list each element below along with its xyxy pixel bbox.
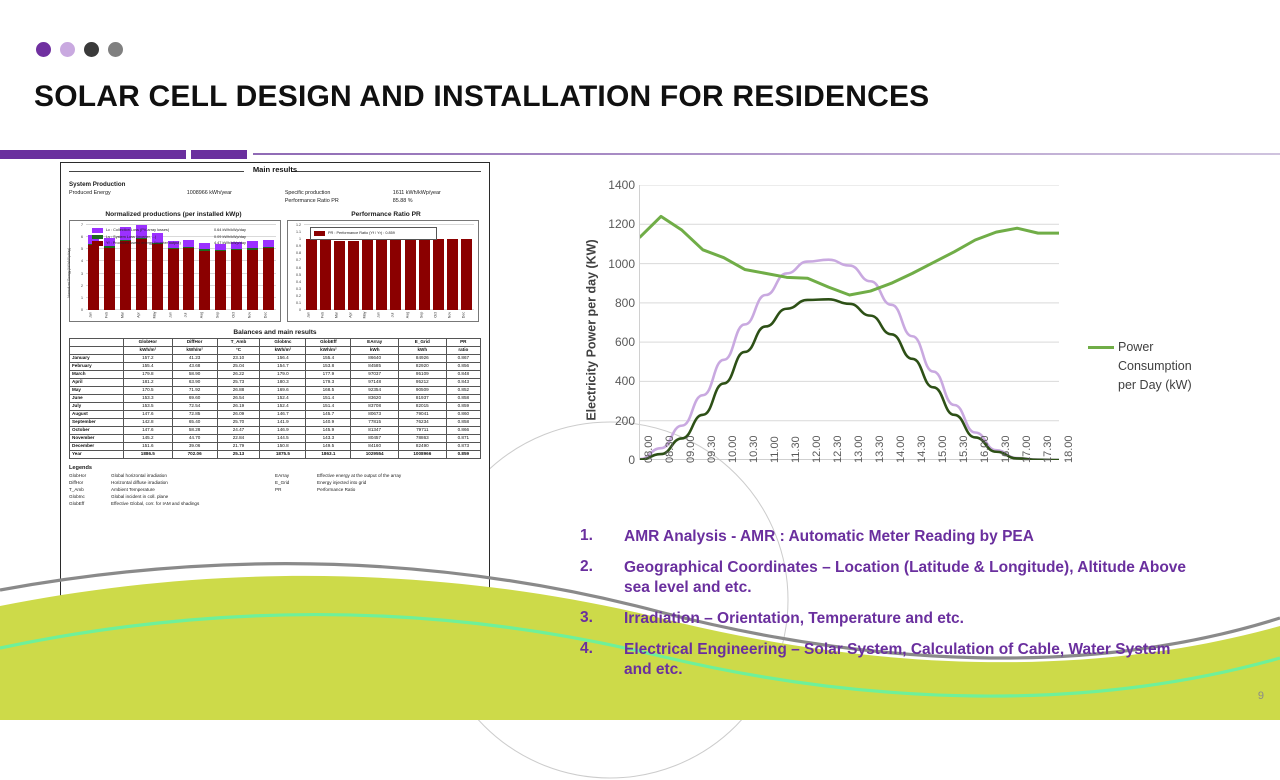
x-tick-label: 08.30	[664, 435, 676, 463]
y-tick-label: 200	[615, 414, 635, 428]
table-cell: 155.4	[306, 354, 351, 362]
table-cell: 26.88	[217, 386, 260, 394]
table-cell: 0.873	[446, 442, 480, 450]
bar	[199, 243, 210, 310]
list-item: 4. Electrical Engineering – Solar System…	[580, 640, 1200, 680]
table-body: January157.241.2323.10156.4155.486640849…	[70, 354, 481, 458]
table-cell: October	[70, 426, 124, 434]
legends-heading: Legends	[69, 465, 481, 471]
bar-segment-yf	[136, 239, 147, 310]
x-tick-label: Jun	[377, 310, 387, 321]
bar-segment-yf	[104, 248, 115, 310]
bar-segment-yf	[88, 245, 99, 310]
table-cell: 141.9	[260, 418, 306, 426]
table-cell: 152.4	[260, 394, 306, 402]
series-line	[640, 216, 1059, 295]
table-cell: 71.92	[172, 386, 217, 394]
legend-row: DiffHorHorizontal diffuse irradiation	[69, 479, 275, 486]
x-tick-label: Oct	[433, 310, 443, 321]
table-row: July153.572.5426.19152.4151.483708820150…	[70, 402, 481, 410]
y-tick-label: 0.6	[296, 266, 301, 270]
bullet-number: 4.	[580, 640, 624, 680]
x-tick-label: 18.00	[1063, 435, 1075, 463]
x-tick-label: 17.30	[1042, 435, 1054, 463]
table-cell: 26.19	[217, 402, 260, 410]
bullet-text: Electrical Engineering – Solar System, C…	[624, 640, 1200, 680]
legend-line-swatch	[1088, 346, 1114, 349]
legend-swatch	[92, 228, 103, 233]
legend-key: PR	[275, 486, 317, 493]
table-cell: 23.10	[217, 354, 260, 362]
table-cell: 0.859	[446, 450, 480, 458]
legend-swatch	[92, 235, 103, 240]
y-tick-label: 1	[299, 237, 301, 241]
table-cell: 1875.5	[260, 450, 306, 458]
spacer-value	[187, 197, 285, 205]
table-cell: 146.7	[260, 410, 306, 418]
table-cell: 81937	[398, 394, 446, 402]
table-row: October147.658.2824.47146.9145.981347797…	[70, 426, 481, 434]
table-cell: 77815	[351, 418, 399, 426]
bar	[334, 241, 345, 310]
legend-desc: Ambient Temperature	[111, 486, 275, 493]
y-tick-label: 0	[628, 453, 635, 467]
table-col-header	[70, 339, 124, 347]
legend-desc: Global horizontal irradiation	[111, 472, 275, 479]
bar	[390, 240, 401, 310]
table-cell: 180.3	[260, 378, 306, 386]
table-cell: 78863	[398, 434, 446, 442]
x-tick-label: 16.30	[1000, 435, 1012, 463]
table-col-unit: ratio	[446, 346, 480, 354]
x-tick-label: Jul	[184, 310, 194, 321]
table-row: February155.443.6825.04154.7153.88458582…	[70, 362, 481, 370]
table-cell: 79711	[398, 426, 446, 434]
table-cell: 151.6	[124, 442, 173, 450]
chart-y-ticks: 0200400600800100012001400	[601, 185, 635, 460]
table-row: November145.244.7022.84144.5143.38045778…	[70, 434, 481, 442]
bar-segment-yf	[168, 249, 179, 310]
y-tick-label: 1200	[608, 217, 635, 231]
x-tick-label: 15.30	[958, 435, 970, 463]
bar-segment-yf	[231, 250, 242, 310]
bar	[362, 240, 373, 310]
report-header-title: Main results	[61, 165, 489, 174]
table-header-row: GlobHorDiffHorT_AmbGlobIncGlobEffEArrayE…	[70, 339, 481, 347]
table-row-year: Year1886.5702.0625.131875.51863.11029554…	[70, 450, 481, 458]
bullet-number: 2.	[580, 558, 624, 598]
table-cell: 82015	[398, 402, 446, 410]
legend-row: GlobHorGlobal horizontal irradiation	[69, 472, 275, 479]
table-cell: 151.4	[306, 394, 351, 402]
table-cell: 83708	[351, 402, 399, 410]
bar-segment-yf	[120, 241, 131, 310]
legend-desc: Performance Ratio	[317, 486, 481, 493]
table-cell: 168.5	[306, 386, 351, 394]
table-col-header: DiffHor	[172, 339, 217, 347]
x-tick-label: Jul	[391, 310, 401, 321]
table-row: December151.639.0621.79150.8149.58416082…	[70, 442, 481, 450]
y-tick-label: 4	[81, 259, 83, 263]
x-tick-label: Sep	[419, 310, 429, 321]
produced-energy-value: 1008966 kWh/year	[187, 189, 285, 197]
x-tick-label: Aug	[405, 310, 415, 321]
pr-y-axis: 00.10.20.30.40.50.60.70.80.911.11.2	[288, 225, 303, 310]
x-tick-label: Aug	[200, 310, 210, 321]
table-cell: 169.6	[260, 386, 306, 394]
table-cell: 90509	[398, 386, 446, 394]
table-col-header: GlobInc	[260, 339, 306, 347]
decorative-dots	[36, 42, 123, 57]
legend-row: PRPerformance Ratio	[275, 486, 481, 493]
y-tick-label: 600	[615, 335, 635, 349]
x-tick-label: 09.30	[706, 435, 718, 463]
bar	[320, 240, 331, 310]
y-tick-label: 0.2	[296, 294, 301, 298]
table-cell: 0.860	[446, 410, 480, 418]
bar	[461, 239, 472, 310]
table-cell: December	[70, 442, 124, 450]
bullet-text: Geographical Coordinates – Location (Lat…	[624, 558, 1200, 598]
table-cell: 44.70	[172, 434, 217, 442]
dot-purple-icon	[36, 42, 51, 57]
table-col-unit: kWh/m²	[172, 346, 217, 354]
balances-table: GlobHorDiffHorT_AmbGlobIncGlobEffEArrayE…	[69, 338, 481, 459]
table-cell: 97037	[351, 370, 399, 378]
table-col-unit: kWh	[351, 346, 399, 354]
x-tick-label: May	[363, 310, 373, 321]
table-cell: 0.856	[446, 362, 480, 370]
series-line	[640, 260, 1059, 460]
table-cell: 81347	[351, 426, 399, 434]
table-cell: 43.68	[172, 362, 217, 370]
x-tick-label: 13.30	[874, 435, 886, 463]
bar	[376, 240, 387, 310]
table-cell: April	[70, 378, 124, 386]
x-tick-label: Apr	[136, 310, 146, 321]
x-tick-label: 10.00	[727, 435, 739, 463]
x-tick-label: 16.00	[979, 435, 991, 463]
table-col-header: GlobHor	[124, 339, 173, 347]
system-production-block: System Production Produced Energy 100896…	[61, 179, 489, 205]
table-cell: 76234	[398, 418, 446, 426]
legend-row: E_GridEnergy injected into grid	[275, 479, 481, 486]
y-tick-label: 1.2	[296, 223, 301, 227]
bar-segment-yf	[199, 251, 210, 311]
table-cell: 26.22	[217, 370, 260, 378]
chart-y-axis-label-text: Electricity Power per day (KW)	[585, 239, 599, 420]
balances-table-title: Balances and main results	[61, 329, 489, 336]
legend-key: GlobInc	[69, 493, 111, 500]
x-tick-label: Mar	[335, 310, 345, 321]
table-cell: 63.90	[172, 378, 217, 386]
table-cell: 0.871	[446, 434, 480, 442]
table-col-header: EArray	[351, 339, 399, 347]
daily-power-chart: Electricity Power per day (KW) 020040060…	[585, 185, 1105, 515]
y-tick-label: 0	[81, 308, 83, 312]
bar-segment-yf	[263, 248, 274, 310]
x-tick-label: Feb	[321, 310, 331, 321]
table-col-unit	[70, 346, 124, 354]
table-cell: 80673	[351, 410, 399, 418]
legend-label: Power Consumption per Day (kW)	[1118, 338, 1208, 395]
y-tick-label: 800	[615, 296, 635, 310]
bar	[183, 240, 194, 310]
pr-legend: PR : Performance Ratio (Yf / Yr) : 0.859	[310, 227, 437, 240]
x-tick-label: Jan	[89, 310, 99, 321]
table-row: April181.263.9025.73180.3179.39714895212…	[70, 378, 481, 386]
spacer-label	[69, 197, 187, 205]
legend-swatch	[92, 241, 103, 246]
bar	[348, 241, 359, 310]
bar	[419, 240, 430, 310]
table-cell: 179.3	[306, 378, 351, 386]
table-cell: 72.85	[172, 410, 217, 418]
table-cell: 82920	[398, 362, 446, 370]
table-cell: 155.4	[124, 362, 173, 370]
table-cell: 153.8	[306, 362, 351, 370]
table-cell: 145.7	[306, 410, 351, 418]
x-tick-label: Sep	[216, 310, 226, 321]
table-cell: 147.6	[124, 410, 173, 418]
table-col-unit: kWh/m²	[260, 346, 306, 354]
table-cell: 179.8	[124, 370, 173, 378]
dot-lavender-icon	[60, 42, 75, 57]
bar	[168, 241, 179, 310]
table-cell: 69.60	[172, 394, 217, 402]
performance-ratio-title: Performance Ratio PR	[286, 211, 486, 218]
table-cell: 86640	[351, 354, 399, 362]
bar-segment-yf	[215, 251, 226, 310]
x-tick-label: Dec	[461, 310, 471, 321]
mini-chart-titles: Normalized productions (per installed kW…	[61, 211, 489, 218]
table-cell: 65.40	[172, 418, 217, 426]
y-tick-label: 5	[81, 247, 83, 251]
table-cell: 24.47	[217, 426, 260, 434]
legend-key: DiffHor	[69, 479, 111, 486]
system-production-row: Performance Ratio PR 85.88 %	[69, 197, 481, 205]
legend-desc: Energy injected into grid	[317, 479, 481, 486]
table-cell: 0.858	[446, 418, 480, 426]
specific-production-label: Specific production	[285, 189, 393, 197]
table-cell: 21.79	[217, 442, 260, 450]
table-cell: 84926	[398, 354, 446, 362]
y-tick-label: 0	[299, 308, 301, 312]
y-tick-label: 7	[81, 223, 83, 227]
table-cell: 92354	[351, 386, 399, 394]
legends-column-left: GlobHorGlobal horizontal irradiationDiff…	[69, 472, 275, 507]
legend-value: 4.47 kWh/kWp/day	[214, 240, 274, 247]
table-cell: March	[70, 370, 124, 378]
table-cell: 150.8	[260, 442, 306, 450]
table-cell: 144.5	[260, 434, 306, 442]
y-tick-label: 1000	[608, 257, 635, 271]
table-cell: November	[70, 434, 124, 442]
table-cell: 58.90	[172, 370, 217, 378]
title-bar-thin	[253, 153, 1280, 155]
y-tick-label: 0.5	[296, 273, 301, 277]
legend-key: GlobEff	[69, 500, 111, 507]
x-tick-label: May	[152, 310, 162, 321]
table-cell: June	[70, 394, 124, 402]
table-cell: September	[70, 418, 124, 426]
x-tick-label: Jun	[168, 310, 178, 321]
table-cell: 147.6	[124, 426, 173, 434]
legend-label: PR : Performance Ratio (Yf / Yr) : 0.859	[328, 230, 433, 237]
x-tick-label: 12.00	[811, 435, 823, 463]
table-cell: 152.4	[260, 402, 306, 410]
legend-key: EArray	[275, 472, 317, 479]
x-tick-label: Dec	[263, 310, 273, 321]
table-cell: 84585	[351, 362, 399, 370]
x-tick-label: Nov	[447, 310, 457, 321]
np-legend: Lc : Collection Loss (PV-array losses)0.…	[92, 227, 274, 247]
legend-row: T_AmbAmbient Temperature	[69, 486, 275, 493]
table-col-header: PR	[446, 339, 480, 347]
table-cell: 72.54	[172, 402, 217, 410]
legend-desc: Global incident in coll. plane	[111, 493, 275, 500]
title-underline	[0, 150, 1280, 160]
np-y-axis: 01234567	[70, 225, 85, 310]
bar	[263, 240, 274, 310]
x-tick-label: Oct	[232, 310, 242, 321]
table-cell: 41.23	[172, 354, 217, 362]
legend-desc: Effective Global, corr. for IAM and shad…	[111, 500, 275, 507]
y-tick-label: 400	[615, 374, 635, 388]
bar	[405, 240, 416, 310]
table-cell: 0.859	[446, 402, 480, 410]
table-cell: 0.848	[446, 370, 480, 378]
table-cell: 25.70	[217, 418, 260, 426]
x-tick-label: Jan	[307, 310, 317, 321]
table-cell: 154.7	[260, 362, 306, 370]
chart-y-axis-label: Electricity Power per day (KW)	[583, 185, 601, 475]
dot-gray-icon	[108, 42, 123, 57]
bar	[306, 239, 317, 310]
x-tick-label: Mar	[120, 310, 130, 321]
x-tick-label: 12.30	[832, 435, 844, 463]
specific-production-value: 1611 kWh/kWp/year	[393, 189, 481, 197]
table-col-header: T_Amb	[217, 339, 260, 347]
chart-plot-area	[639, 185, 1059, 460]
table-cell: 170.5	[124, 386, 173, 394]
table-cell: 149.5	[306, 442, 351, 450]
table-row: September142.865.4025.70141.9140.9778157…	[70, 418, 481, 426]
table-cell: 1008966	[398, 450, 446, 458]
table-col-header: GlobEff	[306, 339, 351, 347]
table-cell: July	[70, 402, 124, 410]
pr-x-axis: JanFebMarAprMayJunJulAugSepOctNovDec	[304, 310, 474, 320]
table-cell: 0.858	[446, 394, 480, 402]
y-tick-label: 6	[81, 235, 83, 239]
report-legends: Legends GlobHorGlobal horizontal irradia…	[61, 459, 489, 507]
table-cell: 84160	[351, 442, 399, 450]
table-cell: 0.852	[446, 386, 480, 394]
table-cell: 1863.1	[306, 450, 351, 458]
normalized-productions-title: Normalized productions (per installed kW…	[61, 211, 286, 218]
legend-desc: Horizontal diffuse irradiation	[111, 479, 275, 486]
table-row: May170.571.9226.88169.6168.592354905090.…	[70, 386, 481, 394]
table-cell: 143.3	[306, 434, 351, 442]
performance-ratio-value: 85.88 %	[393, 197, 481, 205]
legend-key: T_Amb	[69, 486, 111, 493]
y-tick-label: 2	[81, 284, 83, 288]
table-row: January157.241.2323.10156.4155.486640849…	[70, 354, 481, 362]
table-cell: 179.0	[260, 370, 306, 378]
table-col-header: E_Grid	[398, 339, 446, 347]
y-tick-label: 0.9	[296, 244, 301, 248]
system-production-heading: System Production	[69, 181, 481, 188]
page-title: SOLAR CELL DESIGN AND INSTALLATION FOR R…	[34, 80, 929, 114]
legend-swatch	[314, 231, 325, 236]
table-cell: 1886.5	[124, 450, 173, 458]
chart-legend: Power Consumption per Day (kW)	[1088, 338, 1208, 395]
legend-key: GlobHor	[69, 472, 111, 479]
x-tick-label: 08.00	[643, 435, 655, 463]
table-cell: 0.867	[446, 354, 480, 362]
table-row: June153.369.6026.54152.4151.483620819370…	[70, 394, 481, 402]
y-tick-label: 1	[81, 296, 83, 300]
legend-key: E_Grid	[275, 479, 317, 486]
table-cell: 702.06	[172, 450, 217, 458]
y-tick-label: 0.1	[296, 301, 301, 305]
bar	[447, 239, 458, 310]
table-cell: 153.5	[124, 402, 173, 410]
table-units-row: kWh/m²kWh/m²°CkWh/m²kWh/m²kWhkWhratio	[70, 346, 481, 354]
table-cell: 156.4	[260, 354, 306, 362]
mini-charts-row: Normalized Energy [kWh/kWp/day] 01234567…	[61, 218, 489, 322]
table-cell: 157.2	[124, 354, 173, 362]
bar-segment-yf	[247, 250, 258, 310]
performance-ratio-chart: 00.10.20.30.40.50.60.70.80.911.11.2 PR :…	[287, 220, 479, 322]
table-col-unit: °C	[217, 346, 260, 354]
table-cell: 142.8	[124, 418, 173, 426]
report-header: Main results	[61, 163, 489, 179]
x-tick-label: 17.00	[1021, 435, 1033, 463]
table-cell: February	[70, 362, 124, 370]
legend-row: GlobEffEffective Global, corr. for IAM a…	[69, 500, 275, 507]
table-cell: 140.9	[306, 418, 351, 426]
table-cell: 145.2	[124, 434, 173, 442]
table-cell: 153.3	[124, 394, 173, 402]
legends-column-right: EArrayEffective energy at the output of …	[275, 472, 481, 507]
table-cell: 145.9	[306, 426, 351, 434]
table-cell: 146.9	[260, 426, 306, 434]
bar	[231, 242, 242, 310]
table-cell: 181.2	[124, 378, 173, 386]
x-tick-label: 11.30	[790, 436, 802, 463]
x-tick-label: 10.30	[748, 435, 760, 463]
table-cell: 25.13	[217, 450, 260, 458]
y-tick-label: 0.8	[296, 251, 301, 255]
system-production-row: Produced Energy 1008966 kWh/year Specifi…	[69, 189, 481, 197]
bullet-number: 1.	[580, 527, 624, 547]
table-cell: 80457	[351, 434, 399, 442]
table-cell: 97148	[351, 378, 399, 386]
x-tick-label: 13.00	[853, 435, 865, 463]
x-tick-label: Apr	[349, 310, 359, 321]
legend-entry: Yf : Produced useful energy (inverter ou…	[92, 240, 274, 247]
legend-row: EArrayEffective energy at the output of …	[275, 472, 481, 479]
performance-ratio-label: Performance Ratio PR	[285, 197, 393, 205]
table-col-unit: kWh/m²	[124, 346, 173, 354]
legend-row: GlobIncGlobal incident in coll. plane	[69, 493, 275, 500]
x-tick-label: Feb	[104, 310, 114, 321]
table-cell: January	[70, 354, 124, 362]
bullet-text: AMR Analysis - AMR : Automatic Meter Rea…	[624, 527, 1034, 547]
legend-entry: PR : Performance Ratio (Yf / Yr) : 0.859	[314, 230, 433, 237]
list-item: 1. AMR Analysis - AMR : Automatic Meter …	[580, 527, 1200, 547]
